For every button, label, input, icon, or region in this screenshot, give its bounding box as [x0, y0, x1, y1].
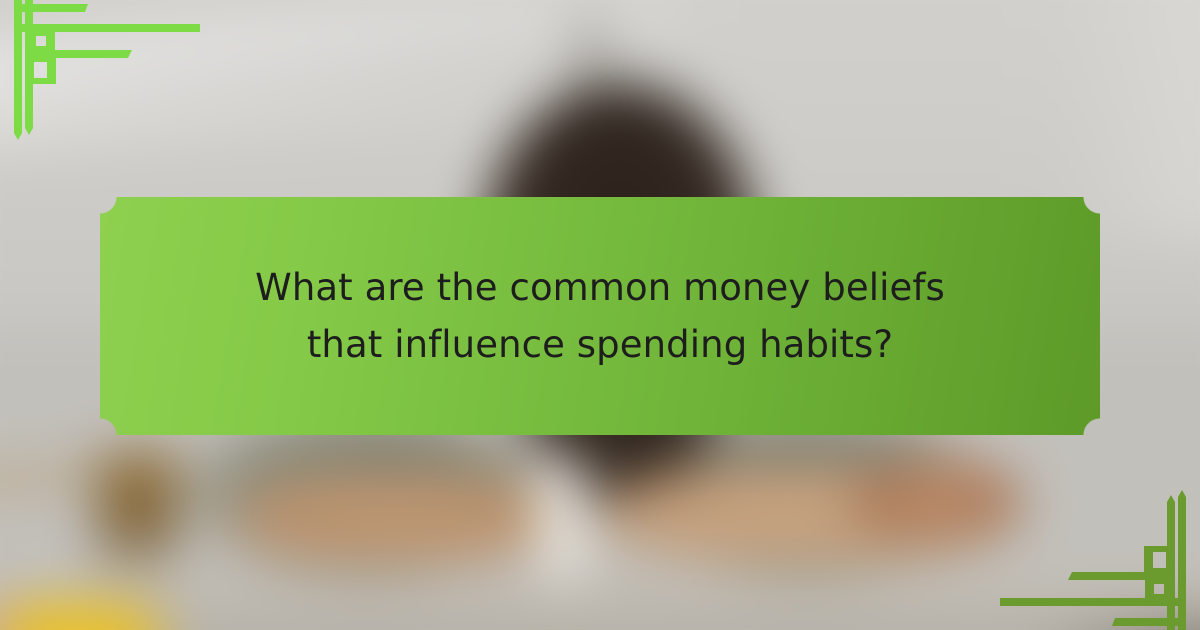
headline-banner: What are the common money beliefs that i…: [100, 197, 1100, 435]
corner-bracket-top-left: [0, 0, 200, 200]
photo-arm-left: [230, 473, 560, 563]
photo-wood-object: [98, 450, 177, 578]
photo-yellow-object: [0, 600, 164, 630]
social-card: What are the common money beliefs that i…: [0, 0, 1200, 630]
corner-bracket-bottom-right: [1000, 430, 1200, 630]
photo-hand: [851, 458, 1023, 541]
headline-text: What are the common money beliefs that i…: [220, 259, 980, 373]
